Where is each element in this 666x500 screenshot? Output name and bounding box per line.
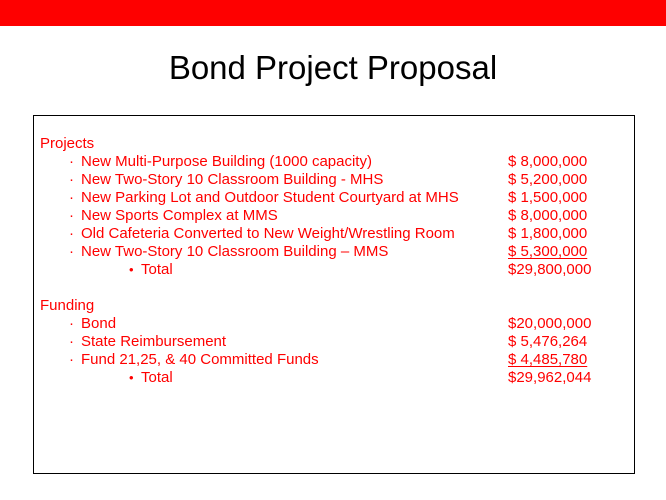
list-item-label: New Two-Story 10 Classroom Building - MH… xyxy=(81,171,383,189)
list-item-label: Bond xyxy=(81,315,116,333)
list-item: · Bond $20,000,000 xyxy=(38,315,630,333)
presentation-slide: Bond Project Proposal Projects · New Mul… xyxy=(0,0,666,500)
total-label: Total xyxy=(141,369,173,387)
list-item: · Old Cafeteria Converted to New Weight/… xyxy=(38,225,630,243)
list-item: · State Reimbursement $ 5,476,264 xyxy=(38,333,630,351)
list-item-label: New Parking Lot and Outdoor Student Cour… xyxy=(81,189,459,207)
list-item-label: State Reimbursement xyxy=(81,333,226,351)
dash-bullet-icon: · xyxy=(69,315,74,333)
dash-bullet-icon: · xyxy=(69,189,74,207)
section-spacer xyxy=(38,279,630,297)
list-item-amount: $ 1,500,000 xyxy=(508,189,598,207)
list-item-label: New Sports Complex at MMS xyxy=(81,207,278,225)
total-amount: $29,962,044 xyxy=(508,369,598,387)
page-title: Bond Project Proposal xyxy=(0,48,666,88)
round-bullet-icon: • xyxy=(129,369,134,387)
section-heading-projects: Projects xyxy=(38,135,630,153)
total-amount: $29,800,000 xyxy=(508,261,598,279)
dash-bullet-icon: · xyxy=(69,171,74,189)
dash-bullet-icon: · xyxy=(69,153,74,171)
content-body: Projects · New Multi-Purpose Building (1… xyxy=(38,135,630,387)
list-item-amount: $ 5,200,000 xyxy=(508,171,598,189)
dash-bullet-icon: · xyxy=(69,225,74,243)
section-heading-funding: Funding xyxy=(38,297,630,315)
list-item: · New Multi-Purpose Building (1000 capac… xyxy=(38,153,630,171)
list-item-total: • Total $29,962,044 xyxy=(38,369,630,387)
list-item-amount: $ 8,000,000 xyxy=(508,153,598,171)
list-item-label: New Two-Story 10 Classroom Building – MM… xyxy=(81,243,388,261)
list-item-amount: $ 5,300,000 xyxy=(508,243,598,261)
dash-bullet-icon: · xyxy=(69,333,74,351)
list-item: · New Two-Story 10 Classroom Building - … xyxy=(38,171,630,189)
list-item: · New Parking Lot and Outdoor Student Co… xyxy=(38,189,630,207)
list-item-label: Old Cafeteria Converted to New Weight/Wr… xyxy=(81,225,455,243)
list-item: · Fund 21,25, & 40 Committed Funds $ 4,4… xyxy=(38,351,630,369)
list-item-label: Fund 21,25, & 40 Committed Funds xyxy=(81,351,319,369)
list-item-total: • Total $29,800,000 xyxy=(38,261,630,279)
list-item-amount: $ 8,000,000 xyxy=(508,207,598,225)
list-item: · New Sports Complex at MMS $ 8,000,000 xyxy=(38,207,630,225)
list-item-amount: $20,000,000 xyxy=(508,315,598,333)
list-item-amount: $ 5,476,264 xyxy=(508,333,598,351)
list-item-amount: $ 4,485,780 xyxy=(508,351,598,369)
accent-bar xyxy=(0,0,666,26)
list-item: · New Two-Story 10 Classroom Building – … xyxy=(38,243,630,261)
list-item-amount: $ 1,800,000 xyxy=(508,225,598,243)
list-item-label: New Multi-Purpose Building (1000 capacit… xyxy=(81,153,372,171)
round-bullet-icon: • xyxy=(129,261,134,279)
total-label: Total xyxy=(141,261,173,279)
dash-bullet-icon: · xyxy=(69,351,74,369)
dash-bullet-icon: · xyxy=(69,207,74,225)
content-box: Projects · New Multi-Purpose Building (1… xyxy=(33,115,635,474)
dash-bullet-icon: · xyxy=(69,243,74,261)
